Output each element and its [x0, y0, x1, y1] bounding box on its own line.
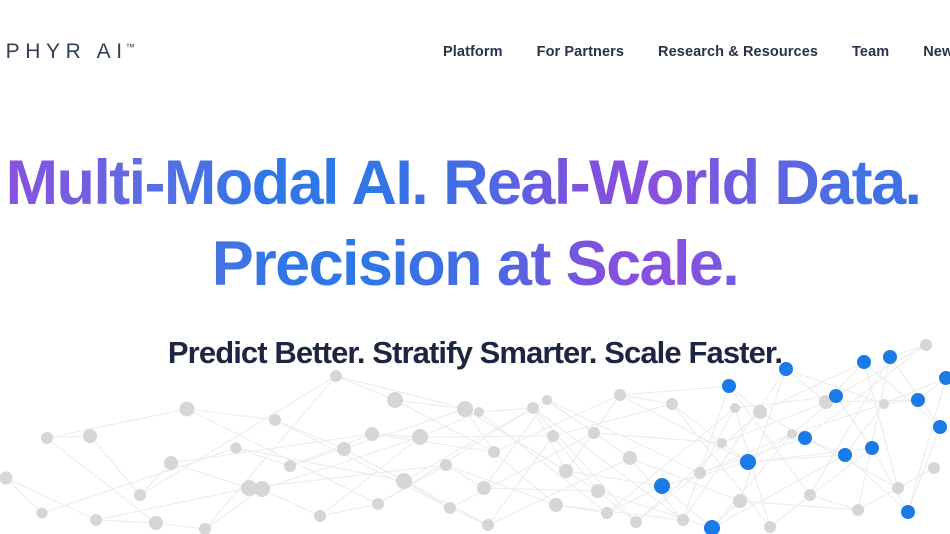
network-link	[729, 386, 760, 412]
nav-item-for-partners[interactable]: For Partners	[537, 45, 624, 60]
network-link	[187, 409, 275, 420]
network-link	[205, 376, 336, 529]
network-link	[607, 408, 735, 513]
network-link	[918, 378, 946, 400]
network-link	[494, 395, 620, 452]
network-link	[171, 434, 372, 463]
network-link	[836, 345, 926, 396]
network-link	[344, 449, 404, 481]
network-link	[249, 465, 446, 488]
network-link	[760, 362, 864, 412]
network-node-accent	[829, 389, 843, 403]
network-node-muted	[717, 438, 727, 448]
hero-headline-line-2: Precision at Scale.	[0, 233, 950, 296]
main-navigation: Platform For Partners Research & Resourc…	[443, 45, 950, 60]
network-link	[884, 378, 946, 404]
network-link	[805, 438, 845, 455]
network-link	[598, 491, 636, 522]
network-link	[630, 458, 740, 501]
network-node-muted	[730, 403, 740, 413]
network-link	[748, 455, 845, 462]
network-link	[770, 448, 872, 527]
network-node-muted	[549, 498, 563, 512]
network-node-accent	[838, 448, 852, 462]
network-link	[810, 357, 890, 495]
nav-item-news[interactable]: News	[923, 45, 950, 60]
network-node-muted	[559, 464, 573, 478]
network-node-muted	[231, 443, 242, 454]
network-link	[446, 465, 556, 505]
network-link	[872, 448, 908, 512]
network-link	[140, 376, 336, 495]
network-link	[740, 501, 858, 510]
network-node-muted	[412, 429, 428, 445]
network-link	[805, 345, 926, 438]
network-link	[636, 412, 760, 522]
network-node-muted	[241, 480, 257, 496]
network-link	[344, 449, 488, 525]
network-link	[450, 508, 488, 525]
network-node-accent	[654, 478, 670, 494]
network-link	[700, 438, 805, 473]
network-node-accent	[722, 379, 736, 393]
brand-logo-text: EPHYR AI	[0, 40, 128, 63]
network-link	[336, 376, 395, 400]
network-node-muted	[372, 498, 384, 510]
network-link	[171, 463, 249, 488]
network-node-muted	[804, 489, 816, 501]
network-link	[700, 408, 735, 473]
network-link	[494, 452, 556, 505]
network-node-accent	[779, 362, 793, 376]
network-link	[553, 436, 598, 491]
network-link	[890, 357, 940, 427]
network-node-muted	[694, 467, 706, 479]
network-link	[275, 420, 450, 508]
network-link	[96, 488, 249, 520]
network-link	[336, 376, 479, 412]
network-link	[636, 473, 700, 522]
network-node-accent	[933, 420, 947, 434]
network-link	[465, 409, 566, 471]
network-node-muted	[440, 459, 452, 471]
network-link	[533, 408, 566, 471]
network-link	[594, 433, 722, 443]
network-link	[484, 488, 598, 491]
network-link	[47, 438, 156, 523]
network-link	[858, 357, 890, 510]
network-node-muted	[852, 504, 864, 516]
network-node-muted	[330, 370, 342, 382]
network-node-muted	[588, 427, 600, 439]
network-link	[566, 395, 620, 471]
network-link	[683, 369, 786, 520]
network-link	[908, 378, 946, 512]
network-node-muted	[164, 456, 178, 470]
network-link	[890, 345, 926, 357]
network-link	[262, 437, 420, 489]
network-node-accent	[798, 431, 812, 445]
network-link	[553, 404, 672, 436]
network-link	[607, 486, 662, 513]
network-link	[712, 434, 792, 528]
network-link	[620, 395, 748, 462]
network-node-muted	[879, 399, 889, 409]
network-node-muted	[365, 427, 379, 441]
network-link	[236, 448, 404, 481]
network-link	[884, 400, 918, 404]
network-link	[662, 462, 748, 486]
network-link	[420, 412, 479, 437]
network-node-accent	[939, 371, 950, 385]
network-link	[533, 408, 683, 520]
network-node-muted	[149, 516, 163, 530]
network-node-accent	[704, 520, 720, 534]
network-link	[845, 455, 908, 512]
network-link	[556, 505, 607, 513]
network-link	[672, 404, 722, 443]
network-link	[547, 400, 700, 473]
network-link	[290, 434, 372, 466]
network-link	[187, 409, 378, 504]
network-node-muted	[819, 395, 833, 409]
network-link	[420, 436, 553, 437]
network-link	[735, 408, 770, 527]
network-link	[712, 455, 845, 528]
nav-item-research-resources[interactable]: Research & Resources	[658, 45, 818, 60]
network-link	[450, 433, 594, 508]
network-node-muted	[787, 429, 797, 439]
network-link	[740, 369, 786, 501]
network-node-accent	[740, 454, 756, 470]
network-node-muted	[591, 484, 605, 498]
network-node-muted	[41, 432, 53, 444]
network-link	[6, 478, 96, 520]
network-link	[320, 504, 378, 516]
network-link	[620, 386, 729, 395]
network-node-muted	[83, 429, 97, 443]
network-node-muted	[623, 451, 637, 465]
network-link	[488, 458, 630, 525]
network-link	[662, 486, 712, 528]
network-link	[488, 436, 553, 525]
network-node-muted	[753, 405, 767, 419]
hero-subheadline: Predict Better. Stratify Smarter. Scale …	[0, 337, 950, 368]
hero-page: EPHYR AI™ Platform For Partners Research…	[0, 0, 950, 534]
network-link	[465, 409, 598, 491]
nav-item-platform[interactable]: Platform	[443, 45, 503, 60]
network-link	[700, 434, 792, 473]
network-link	[6, 478, 42, 513]
network-node-muted	[387, 392, 403, 408]
network-link	[864, 362, 940, 427]
network-link	[205, 489, 262, 529]
network-link	[249, 488, 262, 489]
network-node-accent	[911, 393, 925, 407]
network-link	[792, 396, 836, 434]
network-link	[836, 396, 872, 448]
network-link	[479, 412, 607, 513]
network-node-muted	[928, 462, 940, 474]
hero-headline-line-1: Multi-Modal AI. Real-World Data.	[0, 152, 938, 215]
network-link	[810, 495, 858, 510]
network-node-muted	[677, 514, 689, 526]
network-link	[320, 437, 420, 516]
network-link	[598, 491, 712, 528]
network-link	[395, 400, 465, 409]
network-link	[156, 523, 205, 529]
network-node-muted	[254, 481, 270, 497]
network-link	[760, 412, 805, 438]
network-link	[236, 448, 290, 466]
network-link	[533, 408, 636, 522]
site-header: EPHYR AI™ Platform For Partners Research…	[0, 0, 950, 88]
network-node-muted	[269, 414, 281, 426]
network-link	[90, 436, 140, 495]
network-node-muted	[527, 402, 539, 414]
network-node-muted	[601, 507, 613, 519]
network-link	[826, 400, 918, 402]
network-node-muted	[666, 398, 678, 410]
network-link	[479, 408, 533, 412]
network-link	[620, 395, 672, 404]
network-link	[556, 505, 683, 520]
network-node-muted	[892, 482, 904, 494]
network-link	[630, 458, 683, 520]
network-link	[395, 400, 494, 452]
trademark-symbol: ™	[126, 42, 135, 52]
network-node-muted	[37, 508, 48, 519]
network-node-muted	[457, 401, 473, 417]
network-link	[404, 400, 547, 481]
network-node-muted	[284, 460, 296, 472]
network-link	[864, 362, 898, 488]
network-link	[748, 448, 872, 462]
network-link	[805, 438, 898, 488]
network-node-accent	[865, 441, 879, 455]
network-node-muted	[0, 472, 13, 485]
network-link	[566, 471, 662, 486]
network-link	[262, 489, 320, 516]
network-link	[290, 409, 465, 466]
network-link	[96, 520, 156, 523]
network-node-muted	[134, 489, 146, 501]
network-node-muted	[920, 339, 932, 351]
network-node-muted	[547, 430, 559, 442]
network-node-accent	[901, 505, 915, 519]
network-node-muted	[444, 502, 456, 514]
network-node-muted	[630, 516, 642, 528]
network-node-muted	[337, 442, 351, 456]
network-link	[722, 402, 826, 443]
network-link	[42, 448, 236, 513]
network-link	[845, 404, 884, 455]
network-node-muted	[614, 389, 626, 401]
network-node-muted	[180, 402, 195, 417]
network-link	[446, 465, 484, 488]
network-node-muted	[90, 514, 102, 526]
network-node-muted	[488, 446, 500, 458]
network-link	[275, 420, 344, 449]
network-link	[786, 369, 884, 404]
network-link	[47, 409, 187, 438]
brand-logo[interactable]: EPHYR AI™	[0, 41, 135, 62]
network-node-muted	[764, 521, 776, 533]
network-link	[908, 427, 940, 512]
network-link	[722, 443, 748, 462]
network-link	[547, 400, 594, 433]
network-link	[826, 362, 864, 402]
network-link	[898, 468, 934, 488]
network-node-accent	[883, 350, 897, 364]
network-link	[748, 434, 792, 462]
network-link	[683, 386, 729, 520]
network-node-muted	[474, 407, 484, 417]
network-link	[372, 434, 420, 437]
network-node-muted	[396, 473, 412, 489]
network-link	[672, 404, 770, 527]
network-link	[372, 434, 494, 452]
network-background-graphic	[0, 330, 950, 534]
network-link	[858, 468, 934, 510]
network-node-muted	[477, 481, 491, 495]
network-link	[712, 501, 740, 528]
network-links	[6, 345, 946, 529]
network-node-muted	[733, 494, 747, 508]
network-node-muted	[482, 519, 494, 531]
network-link	[378, 408, 533, 504]
network-link	[735, 396, 836, 408]
network-node-muted	[314, 510, 326, 522]
network-node-muted	[199, 523, 211, 534]
network-node-muted	[542, 395, 552, 405]
network-link	[140, 463, 171, 495]
network-link	[792, 404, 884, 434]
network-link	[404, 481, 450, 508]
network-node-accent	[857, 355, 871, 369]
nav-item-team[interactable]: Team	[852, 45, 889, 60]
network-link	[729, 386, 810, 495]
network-nodes	[0, 339, 950, 534]
network-link	[786, 369, 826, 402]
network-link	[770, 495, 810, 527]
network-link	[47, 436, 90, 438]
network-link	[465, 409, 494, 452]
network-link	[594, 433, 630, 458]
network-link	[378, 465, 446, 504]
network-link	[484, 400, 547, 488]
